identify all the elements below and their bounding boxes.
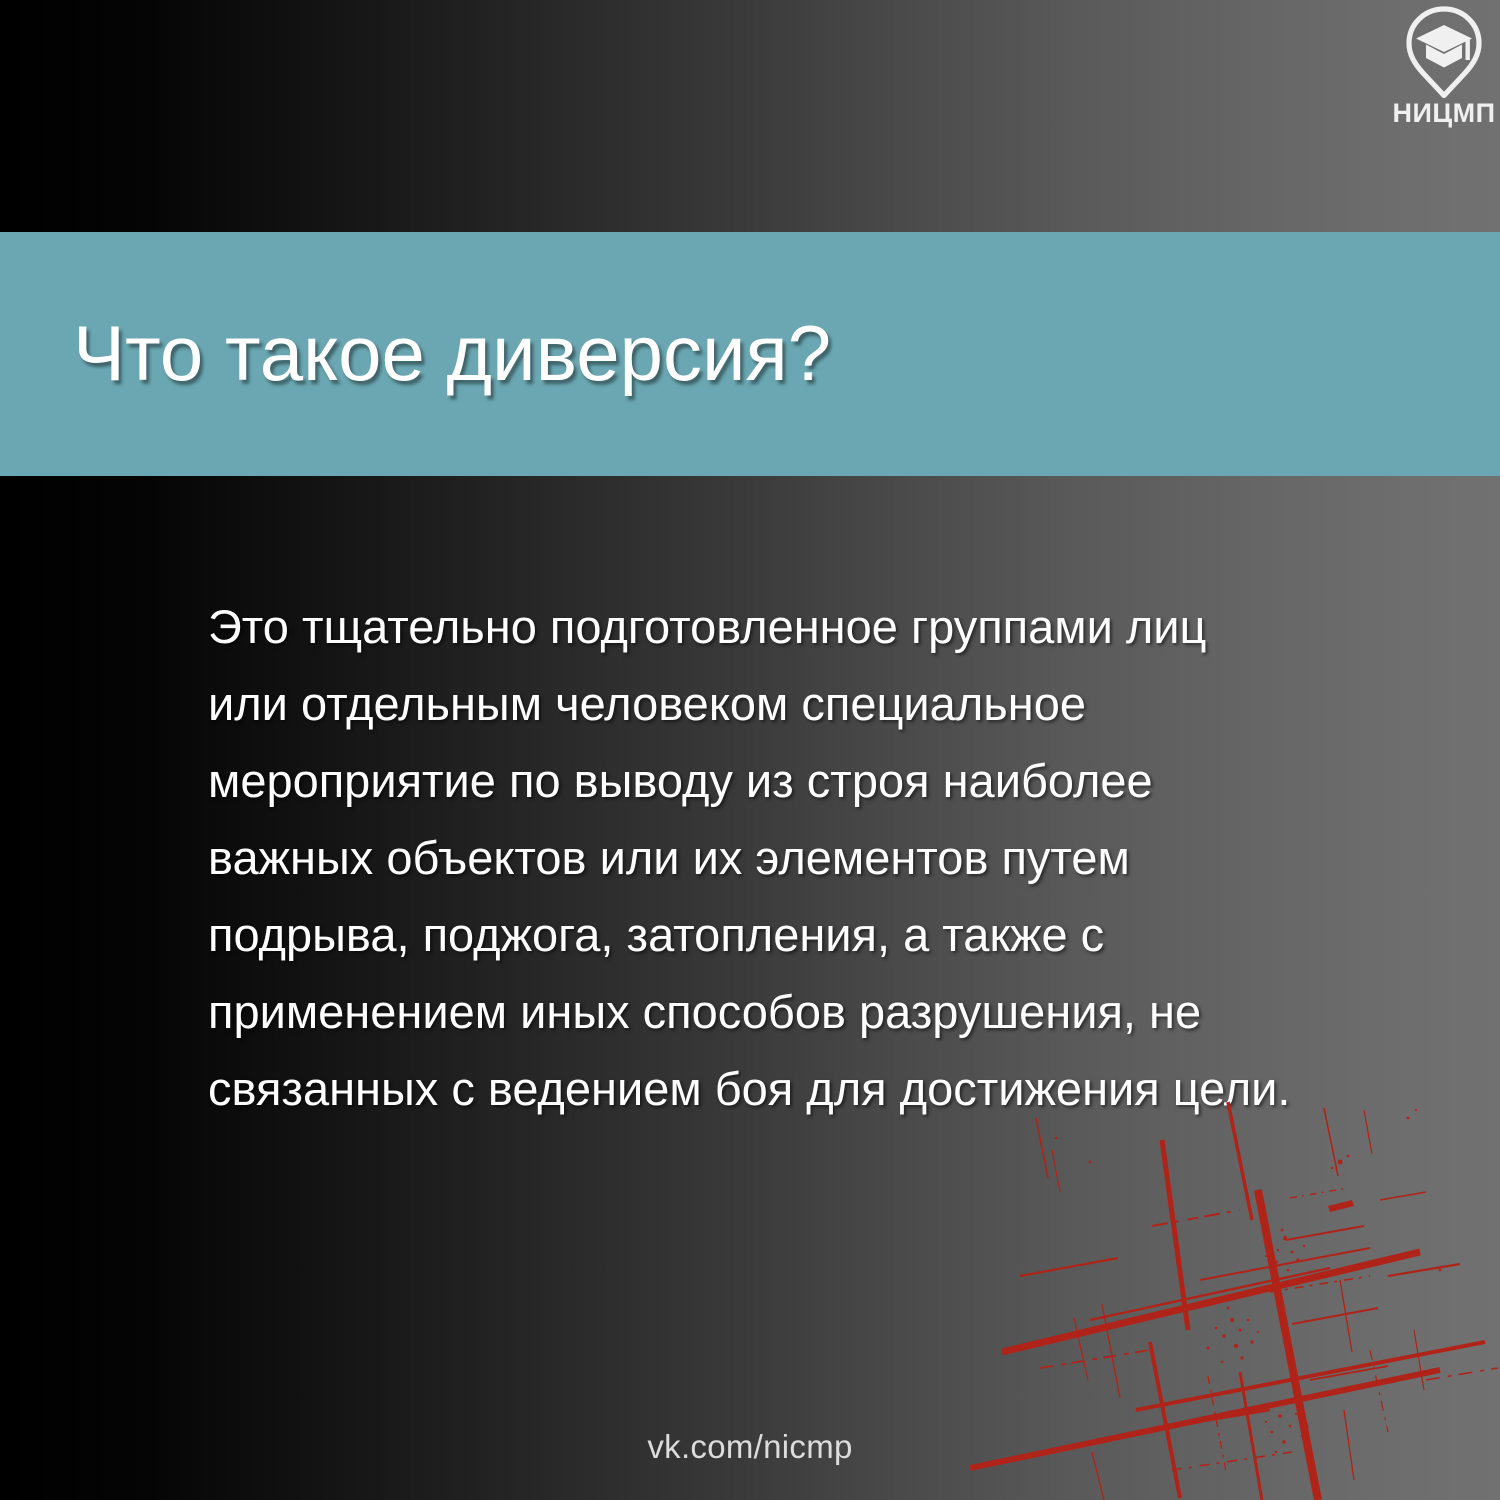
logo-wordmark: НИЦМП [1392, 100, 1495, 127]
body-copy: Это тщательно подготовленное группами ли… [208, 588, 1408, 1127]
vk-link[interactable]: vk.com/nicmp [647, 1428, 852, 1466]
body-line: применением иных способов разрушения, не [208, 973, 1408, 1050]
slide-canvas: НИЦМП Что такое диверсия? Это тщательно … [0, 0, 1500, 1500]
body-line: важных объектов или их элементов путем [208, 819, 1408, 896]
body-line: Это тщательно подготовленное группами ли… [208, 588, 1408, 665]
body-line: мероприятие по выводу из строя наиболее [208, 742, 1408, 819]
body-line: или отдельным человеком специальное [208, 665, 1408, 742]
footer: vk.com/nicmp [0, 1428, 1500, 1466]
title-band: Что такое диверсия? [0, 232, 1500, 476]
body-line: связанных с ведением боя для достижения … [208, 1050, 1408, 1127]
map-pin-graduation-cap-icon [1396, 6, 1492, 98]
brand-logo: НИЦМП [1390, 6, 1498, 136]
body-line: подрыва, поджога, затопления, а также с [208, 896, 1408, 973]
page-title: Что такое диверсия? [73, 313, 831, 395]
